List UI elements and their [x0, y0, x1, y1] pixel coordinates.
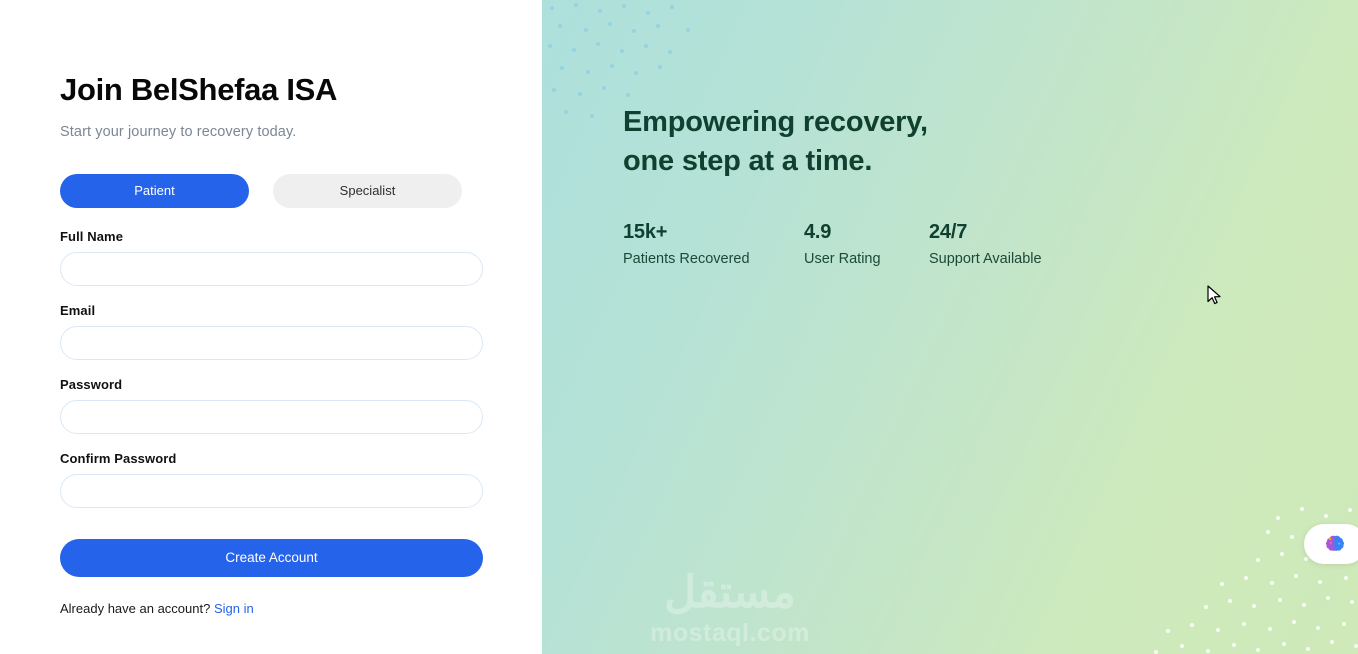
stat-value: 4.9 — [804, 221, 929, 244]
brain-widget-button[interactable] — [1304, 524, 1358, 564]
signin-link[interactable]: Sign in — [214, 601, 254, 616]
signup-page: Join BelShefaa ISA Start your journey to… — [0, 0, 1358, 654]
field-label-password: Password — [60, 377, 483, 392]
field-label-full-name: Full Name — [60, 229, 483, 244]
signup-form-panel: Join BelShefaa ISA Start your journey to… — [0, 0, 542, 654]
stat-value: 24/7 — [929, 221, 1129, 244]
full-name-input[interactable] — [60, 252, 483, 286]
password-input[interactable] — [60, 400, 483, 434]
brain-icon — [1324, 533, 1346, 555]
email-input[interactable] — [60, 326, 483, 360]
stat-label: Patients Recovered — [623, 251, 804, 267]
field-label-email: Email — [60, 303, 483, 318]
confirm-password-input[interactable] — [60, 474, 483, 508]
mostaql-watermark: مستقل mostaql.com — [600, 571, 860, 646]
stat-value: 15k+ — [623, 221, 804, 244]
hero-panel: Empowering recovery, one step at a time.… — [542, 0, 1358, 654]
field-confirm-password: Confirm Password — [60, 451, 483, 508]
page-subtitle: Start your journey to recovery today. — [60, 124, 483, 140]
hero-headline: Empowering recovery, one step at a time. — [623, 103, 1263, 180]
stat-user-rating: 4.9 User Rating — [804, 221, 929, 267]
signin-prompt-text: Already have an account? — [60, 601, 210, 616]
role-toggle-group: Patient Specialist — [60, 174, 483, 208]
role-tab-specialist[interactable]: Specialist — [273, 174, 462, 208]
field-password: Password — [60, 377, 483, 434]
field-label-confirm-password: Confirm Password — [60, 451, 483, 466]
hero-text: Empowering recovery, one step at a time. — [623, 103, 1263, 180]
signin-row: Already have an account? Sign in — [60, 601, 483, 616]
create-account-button[interactable]: Create Account — [60, 539, 483, 577]
field-email: Email — [60, 303, 483, 360]
page-title: Join BelShefaa ISA — [60, 72, 483, 108]
stat-label: User Rating — [804, 251, 929, 267]
hero-stats: 15k+ Patients Recovered 4.9 User Rating … — [623, 221, 1129, 267]
watermark-latin: mostaql.com — [650, 621, 810, 646]
arrow-cursor — [1207, 285, 1223, 307]
field-full-name: Full Name — [60, 229, 483, 286]
stat-support-available: 24/7 Support Available — [929, 221, 1129, 267]
stat-patients-recovered: 15k+ Patients Recovered — [623, 221, 804, 267]
signup-form: Join BelShefaa ISA Start your journey to… — [60, 72, 483, 616]
stat-label: Support Available — [929, 251, 1129, 267]
role-tab-patient[interactable]: Patient — [60, 174, 249, 208]
watermark-arabic: مستقل — [664, 571, 796, 615]
